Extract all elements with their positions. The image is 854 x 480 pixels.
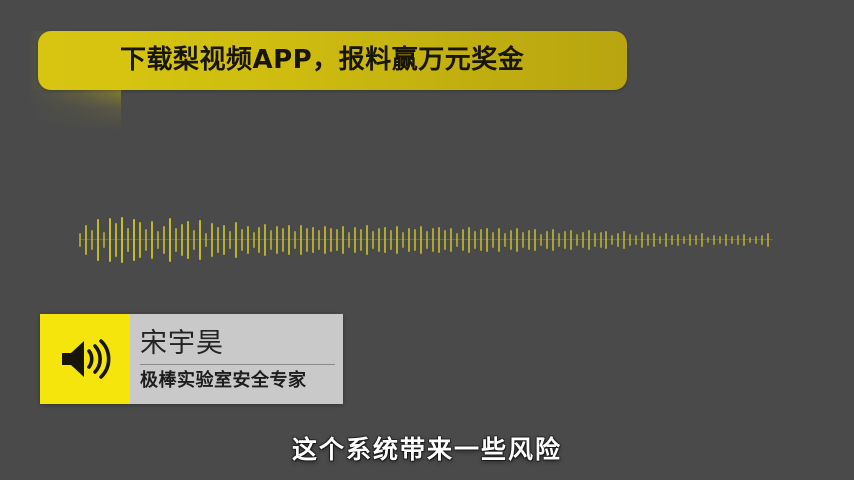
speaker-card-divider — [140, 364, 335, 365]
waveform-bar — [450, 228, 452, 252]
waveform-bar — [354, 227, 356, 253]
waveform-bar — [432, 228, 434, 251]
waveform-bar — [139, 222, 141, 258]
waveform-bar — [235, 222, 237, 258]
waveform-bar — [564, 231, 566, 248]
waveform-bar — [115, 223, 117, 257]
waveform-bar — [318, 230, 320, 249]
waveform-bar — [498, 228, 500, 251]
waveform-bar — [253, 232, 255, 248]
waveform-bar — [480, 229, 482, 250]
waveform-bar — [151, 221, 153, 259]
waveform-bar — [229, 231, 231, 249]
waveform-bar — [157, 231, 159, 248]
waveform-bar — [486, 228, 488, 253]
waveform-bar — [187, 221, 189, 258]
waveform-bar — [372, 231, 374, 249]
speaker-title: 极棒实验室安全专家 — [140, 369, 335, 393]
waveform-bar — [199, 220, 201, 260]
waveform-bar — [671, 235, 673, 246]
waveform-bar — [516, 228, 518, 252]
waveform-bar — [408, 228, 410, 253]
waveform-bar — [438, 227, 440, 253]
waveform-bar — [456, 233, 458, 247]
video-player-frame: 下载梨视频APP，报料赢万元奖金 宋宇昊 极棒实验室安全专家 这个系统带来一些风… — [0, 0, 854, 480]
speaker-info-block: 宋宇昊 极棒实验室安全专家 — [130, 314, 343, 404]
waveform-bar — [97, 219, 99, 260]
waveform-bar — [558, 233, 560, 247]
waveform-bar — [522, 232, 524, 247]
waveform-bar — [145, 229, 147, 250]
waveform-bar — [689, 234, 691, 246]
waveform-bar — [360, 229, 362, 251]
waveform-bar — [677, 234, 679, 246]
audio-waveform — [79, 213, 773, 267]
waveform-bar — [330, 228, 332, 253]
waveform-bar — [725, 234, 727, 246]
waveform-bar — [731, 236, 733, 244]
waveform-bar — [600, 232, 602, 247]
waveform-bar — [121, 217, 123, 263]
waveform-bar — [510, 230, 512, 250]
waveform-bar — [659, 236, 661, 245]
promo-banner-label: 下载梨视频APP，报料赢万元奖金 — [120, 31, 524, 90]
waveform-bar — [390, 230, 392, 250]
waveform-bar — [378, 228, 380, 252]
waveform-bar — [576, 234, 578, 246]
waveform-bar — [348, 232, 350, 248]
waveform-bar — [594, 233, 596, 246]
waveform-bar — [396, 226, 398, 255]
waveform-bar — [169, 218, 171, 262]
waveform-bar — [247, 226, 249, 255]
waveform-bar — [193, 230, 195, 249]
waveform-bar — [582, 232, 584, 248]
waveform-bar — [707, 237, 709, 244]
waveform-bar — [366, 225, 368, 255]
promo-banner-trail-mask — [27, 90, 121, 131]
waveform-bar — [737, 235, 739, 245]
waveform-bar — [205, 233, 207, 247]
promo-banner[interactable]: 下载梨视频APP，报料赢万元奖金 — [38, 31, 627, 90]
waveform-bar — [336, 229, 338, 250]
waveform-bar — [701, 233, 703, 246]
waveform-bar — [588, 230, 590, 249]
waveform-bar — [444, 230, 446, 249]
waveform-bar — [695, 235, 697, 245]
waveform-bar — [552, 229, 554, 250]
waveform-bar — [109, 218, 111, 261]
waveform-bar — [217, 227, 219, 253]
waveform-bar — [324, 226, 326, 255]
waveform-bar — [719, 236, 721, 245]
waveform-bar — [420, 226, 422, 254]
waveform-bar — [468, 227, 470, 254]
waveform-bar — [127, 228, 129, 253]
waveform-bar — [79, 233, 81, 247]
waveform-bar — [462, 229, 464, 251]
waveform-bar — [426, 231, 428, 248]
waveform-bar — [211, 223, 213, 257]
waveform-bar — [713, 235, 715, 246]
waveform-bar — [181, 224, 183, 256]
waveform-bar — [755, 236, 757, 245]
waveform-bar — [665, 233, 667, 247]
waveform-bar — [85, 225, 87, 255]
waveform-bar — [504, 233, 506, 246]
waveform-bar — [414, 229, 416, 250]
waveform-bar — [175, 228, 177, 251]
waveform-bar — [133, 219, 135, 261]
waveform-bar — [402, 232, 404, 247]
waveform-bar — [534, 229, 536, 251]
speaker-name: 宋宇昊 — [140, 326, 335, 362]
waveform-bar — [241, 229, 243, 251]
waveform-bar — [540, 234, 542, 246]
waveform-bar — [163, 226, 165, 254]
waveform-bar — [342, 226, 344, 254]
waveform-bar — [767, 233, 769, 247]
waveform-bar — [546, 231, 548, 249]
waveform-bar — [91, 230, 93, 249]
speaker-volume-icon — [58, 337, 112, 381]
waveform-bar — [528, 230, 530, 249]
speaker-card: 宋宇昊 极棒实验室安全专家 — [40, 314, 343, 404]
subtitle-text: 这个系统带来一些风险 — [0, 430, 854, 466]
waveform-bar — [570, 230, 572, 250]
waveform-bar — [474, 231, 476, 249]
waveform-bar — [223, 225, 225, 256]
speaker-icon-block — [40, 314, 130, 404]
waveform-bar — [749, 237, 751, 244]
waveform-bar — [761, 235, 763, 246]
waveform-bar — [282, 228, 284, 252]
waveform-bar — [492, 232, 494, 248]
waveform-bar — [683, 236, 685, 244]
waveform-bar — [743, 234, 745, 246]
waveform-bar — [312, 227, 314, 254]
waveform-bar — [103, 232, 105, 248]
waveform-bar — [384, 227, 386, 254]
